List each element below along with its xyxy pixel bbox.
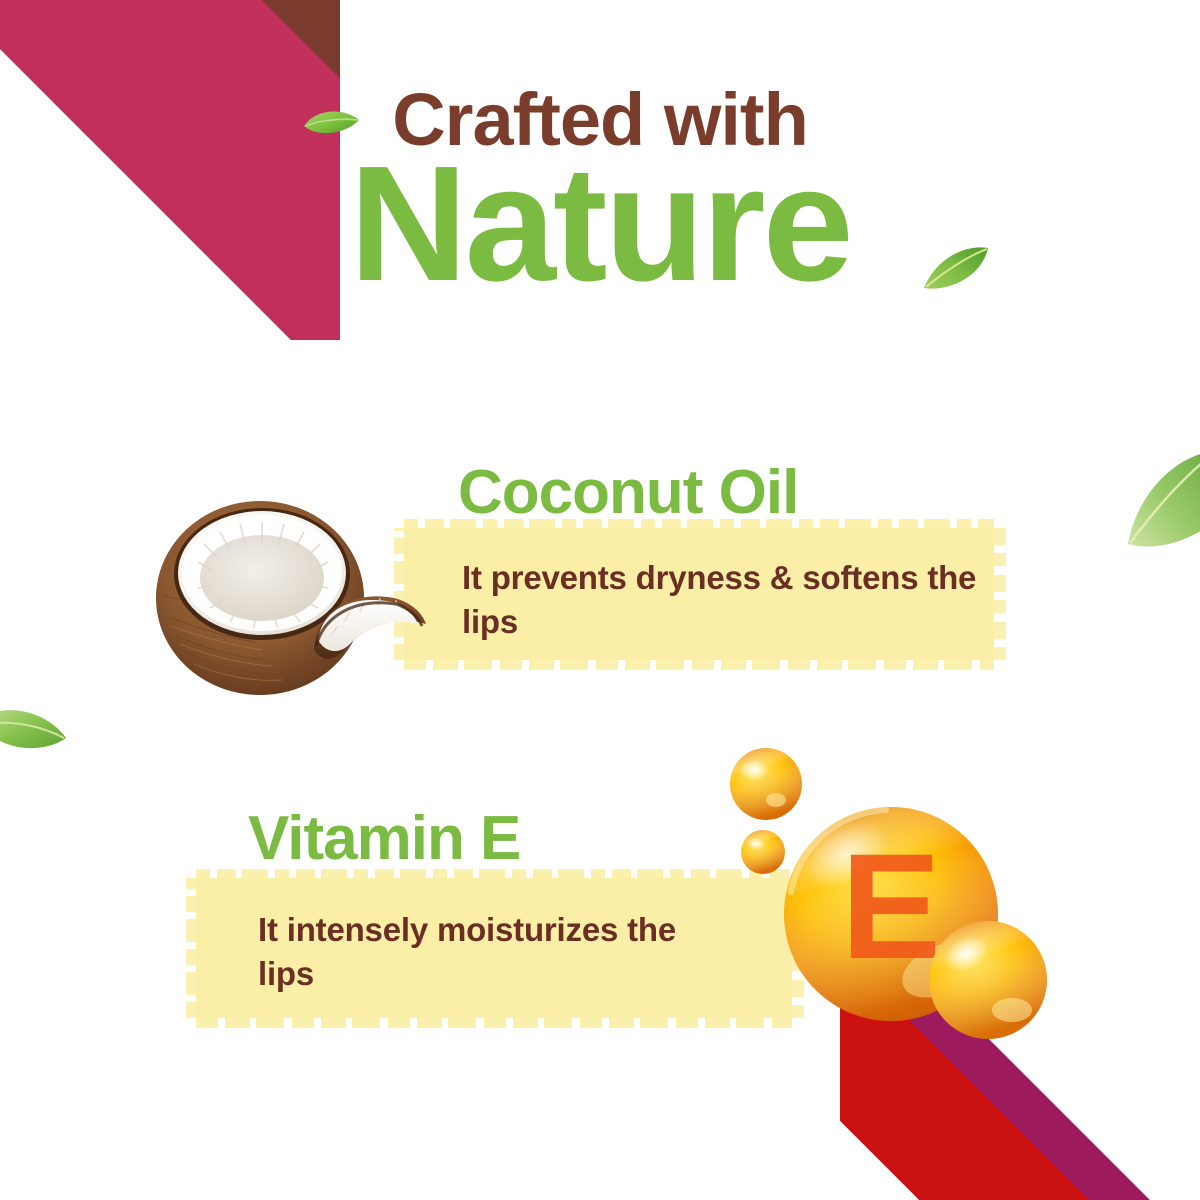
leaf-left-edge-icon — [0, 698, 68, 760]
droplet-small-mid — [741, 830, 785, 874]
droplet-small-top — [730, 748, 802, 820]
vitamin-e-droplet-image: E — [718, 742, 1078, 1042]
ingredient-title-vitamin-e: Vitamin E — [248, 808, 520, 870]
droplet-letter-e: E — [841, 822, 941, 990]
ingredient-title-coconut-oil: Coconut Oil — [458, 462, 798, 524]
brush-edge-left — [186, 878, 198, 1018]
ribbon-band-dark-brown — [0, 0, 340, 90]
ingredient-description-coconut-oil: It prevents dryness & softens the lips — [462, 556, 992, 643]
ingredient-description-vitamin-e: It intensely moisturizes the lips — [258, 908, 698, 995]
brush-edge-bottom — [404, 658, 994, 670]
brush-edge-right — [991, 528, 1006, 660]
droplet-small-bottom — [929, 921, 1047, 1039]
coconut-image — [142, 478, 442, 703]
headline-block: Crafted with Nature — [0, 84, 1200, 300]
leaf-right-edge-icon — [1122, 452, 1200, 550]
ingredient-poster: Crafted with Nature Coconut Oil It preve… — [0, 0, 1200, 1200]
headline-line-2: Nature — [0, 149, 1200, 300]
brush-edge-bottom — [196, 1016, 792, 1028]
